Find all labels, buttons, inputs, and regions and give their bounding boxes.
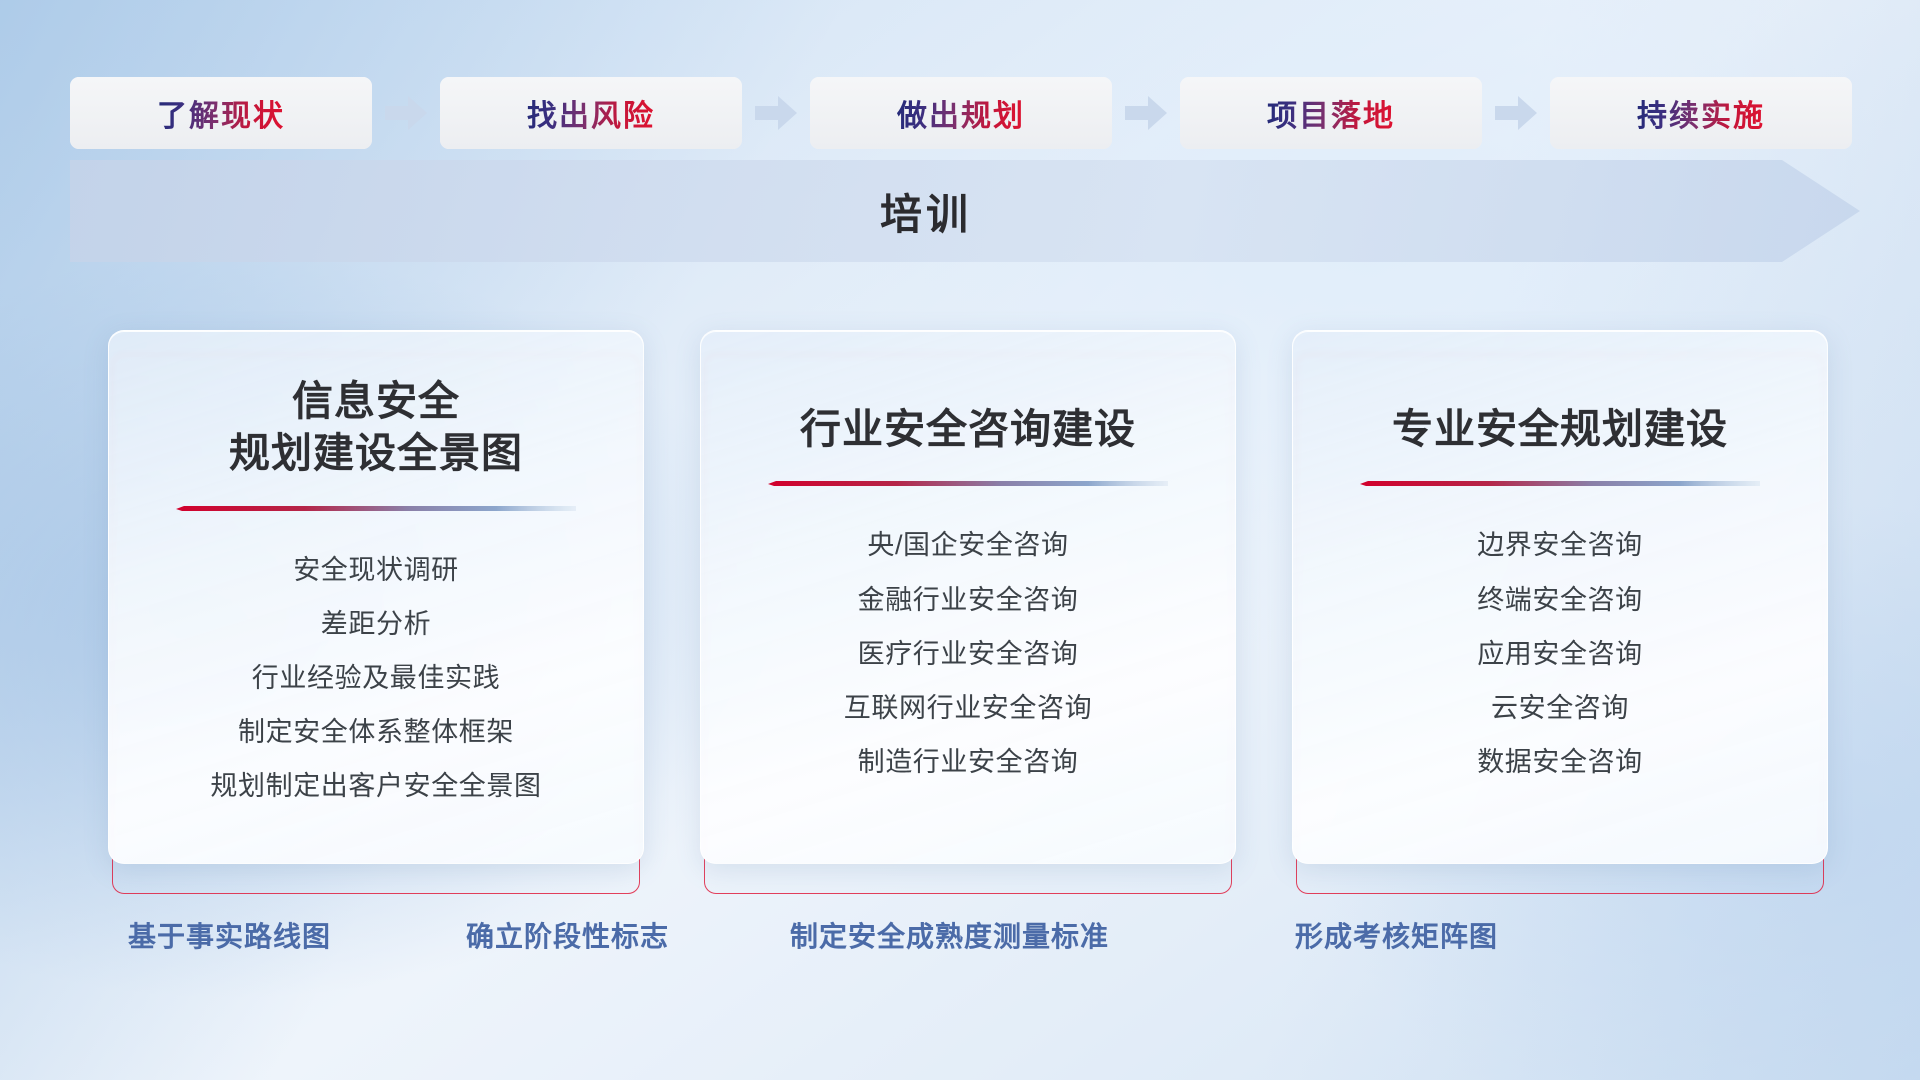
training-banner: 培训 — [70, 160, 1860, 262]
card-divider-0 — [176, 506, 576, 517]
card-wrap-0: 信息安全 规划建设全景图 — [108, 330, 644, 875]
card-divider-1 — [768, 481, 1168, 492]
card-title-2: 专业安全规划建设 — [1293, 403, 1827, 455]
chevron-right-arrow-icon-2 — [1124, 93, 1168, 133]
list-item: 制造行业安全咨询 — [701, 735, 1235, 789]
list-item: 安全现状调研 — [109, 543, 643, 597]
step-box-3[interactable]: 项目落地 — [1180, 77, 1482, 149]
footer-caption-0: 基于事实路线图 — [128, 915, 331, 955]
card-wrap-1: 行业安全咨询建设 — [700, 330, 1236, 875]
step-label-2: 做出规划 — [897, 91, 1025, 135]
card-title-1: 行业安全咨询建设 — [701, 403, 1235, 455]
step-box-inner-4: 持续实施 — [1550, 77, 1852, 149]
card-1[interactable]: 行业安全咨询建设 — [700, 330, 1236, 864]
list-item: 终端安全咨询 — [1293, 573, 1827, 627]
list-item: 云安全咨询 — [1293, 681, 1827, 735]
list-item: 边界安全咨询 — [1293, 518, 1827, 572]
step-box-inner-3: 项目落地 — [1180, 77, 1482, 149]
step-box-2[interactable]: 做出规划 — [810, 77, 1112, 149]
chevron-right-arrow-icon-0 — [384, 93, 428, 133]
card-0[interactable]: 信息安全 规划建设全景图 — [108, 330, 644, 864]
step-label-3: 项目落地 — [1267, 91, 1395, 135]
step-box-inner-2: 做出规划 — [810, 77, 1112, 149]
list-item: 规划制定出客户安全全景图 — [109, 759, 643, 813]
step-box-inner-0: 了解现状 — [70, 77, 372, 149]
step-box-0[interactable]: 了解现状 — [70, 77, 372, 149]
card-list-2: 边界安全咨询 终端安全咨询 应用安全咨询 云安全咨询 数据安全咨询 — [1293, 518, 1827, 789]
footer-caption-2: 制定安全成熟度测量标准 — [790, 915, 1109, 955]
list-item: 互联网行业安全咨询 — [701, 681, 1235, 735]
process-step-flow: 了解现状 找出风险 做出规划 — [70, 76, 1852, 150]
card-divider-2 — [1360, 481, 1760, 492]
list-item: 差距分析 — [109, 597, 643, 651]
list-item: 医疗行业安全咨询 — [701, 627, 1235, 681]
card-list-0: 安全现状调研 差距分析 行业经验及最佳实践 制定安全体系整体框架 规划制定出客户… — [109, 543, 643, 814]
footer-caption-1: 确立阶段性标志 — [466, 915, 669, 955]
list-item: 央/国企安全咨询 — [701, 518, 1235, 572]
list-item: 数据安全咨询 — [1293, 735, 1827, 789]
list-item: 行业经验及最佳实践 — [109, 651, 643, 705]
step-label-4: 持续实施 — [1637, 91, 1765, 135]
card-wrap-2: 专业安全规划建设 — [1292, 330, 1828, 875]
list-item: 制定安全体系整体框架 — [109, 705, 643, 759]
slide-canvas: 了解现状 找出风险 做出规划 — [0, 0, 1920, 1080]
step-label-1: 找出风险 — [527, 91, 655, 135]
step-box-4[interactable]: 持续实施 — [1550, 77, 1852, 149]
card-list-1: 央/国企安全咨询 金融行业安全咨询 医疗行业安全咨询 互联网行业安全咨询 制造行… — [701, 518, 1235, 789]
list-item: 应用安全咨询 — [1293, 627, 1827, 681]
step-box-inner-1: 找出风险 — [440, 77, 742, 149]
banner-title: 培训 — [70, 160, 1860, 262]
chevron-right-arrow-icon-1 — [754, 93, 798, 133]
list-item: 金融行业安全咨询 — [701, 573, 1235, 627]
step-label-0: 了解现状 — [157, 91, 285, 135]
footer-caption-row: 基于事实路线图 确立阶段性标志 制定安全成熟度测量标准 形成考核矩阵图 — [0, 915, 1920, 965]
card-title-0: 信息安全 规划建设全景图 — [109, 375, 643, 480]
chevron-right-arrow-icon-3 — [1494, 93, 1538, 133]
card-2[interactable]: 专业安全规划建设 — [1292, 330, 1828, 864]
step-box-1[interactable]: 找出风险 — [440, 77, 742, 149]
footer-caption-3: 形成考核矩阵图 — [1295, 915, 1498, 955]
card-row: 信息安全 规划建设全景图 — [108, 330, 1828, 875]
